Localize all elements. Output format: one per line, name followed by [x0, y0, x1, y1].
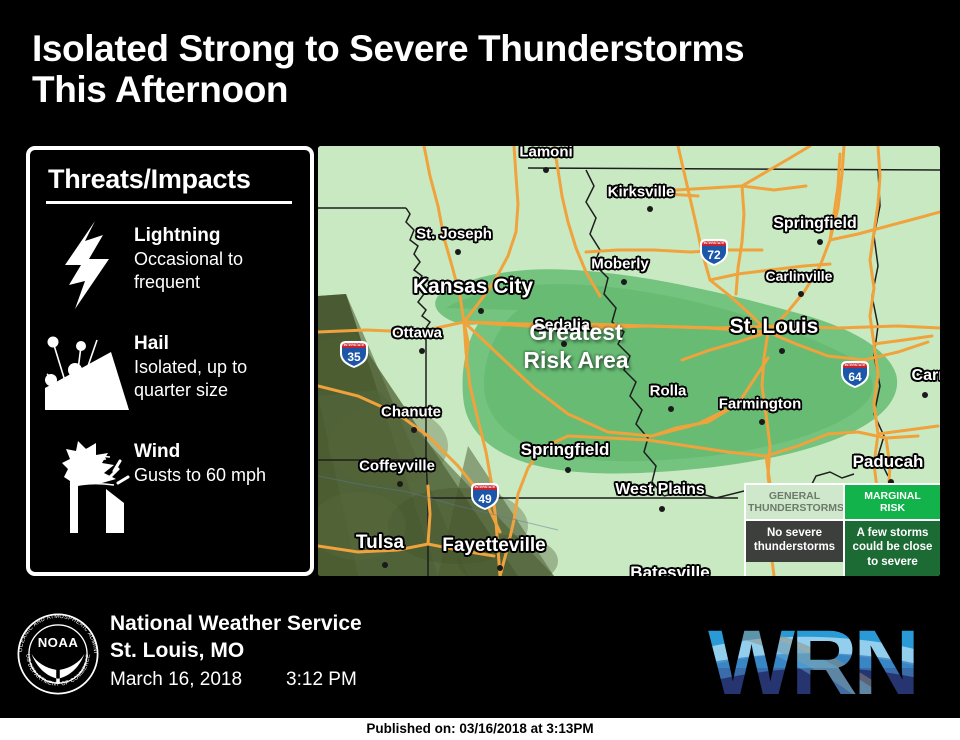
city-label: Paducah	[853, 452, 924, 472]
city-dot	[668, 406, 674, 412]
city-dot	[455, 249, 461, 255]
agency-name: National Weather Service	[110, 610, 362, 637]
city-dot	[411, 427, 417, 433]
city-label: Kirksville	[608, 184, 675, 201]
threat-row-lightning: Lightning Occasional to frequent	[44, 218, 298, 312]
city-dot	[621, 279, 627, 285]
legend-head-line-1: GENERAL	[748, 490, 841, 502]
svg-text:NOAA: NOAA	[38, 635, 79, 650]
city-label: Carm	[912, 367, 940, 385]
legend-body: No severe thunderstorms	[746, 519, 843, 562]
city-label: Kansas City	[413, 275, 533, 299]
threats-impacts-panel: Threats/Impacts Lightning Occasional to …	[26, 146, 314, 576]
legend-body: A few storms could be close to severe	[845, 519, 940, 576]
legend-head-line-2: THUNDERSTORMS	[748, 502, 841, 514]
issuance-date: March 16, 2018	[110, 669, 242, 691]
city-label: Tulsa	[356, 532, 404, 554]
city-label: Coffeyville	[359, 458, 435, 475]
heading-divider	[46, 201, 292, 204]
interstate-shield-icon: INTERSTATE49	[469, 481, 501, 511]
threat-desc-line-2: frequent	[134, 271, 243, 294]
city-dot	[497, 565, 503, 571]
city-label: Carlinville	[766, 268, 833, 284]
threats-panel-heading: Threats/Impacts	[44, 160, 298, 201]
lightning-bolt-icon	[44, 218, 130, 312]
threat-desc-line-2: quarter size	[134, 379, 247, 402]
outlook-map[interactable]: LamoniKirksvilleSpringfieldSt. JosephMob…	[318, 146, 940, 576]
city-dot	[779, 348, 785, 354]
svg-text:49: 49	[478, 492, 492, 506]
weather-graphic-page: Isolated Strong to Severe Thunderstorms …	[0, 0, 960, 740]
title-line-2: This Afternoon	[32, 69, 912, 110]
noaa-logo-icon: NATIONAL OCEANIC AND ATMOSPHERIC ADMINIS…	[14, 610, 102, 698]
threat-name: Lightning	[134, 224, 243, 248]
city-dot	[397, 481, 403, 487]
svg-text:INTERSTATE: INTERSTATE	[845, 363, 867, 367]
hailstones-icon	[44, 326, 130, 420]
svg-text:64: 64	[848, 370, 862, 384]
city-label: Ottawa	[392, 325, 442, 342]
title-line-1: Isolated Strong to Severe Thunderstorms	[32, 28, 744, 69]
city-dot	[478, 308, 484, 314]
city-label: Springfield	[521, 440, 610, 460]
city-label: St. Louis	[730, 315, 819, 339]
city-dot	[659, 506, 665, 512]
map-legend: GENERAL THUNDERSTORMS No severe thunders…	[744, 483, 940, 576]
svg-text:72: 72	[707, 248, 721, 262]
page-title: Isolated Strong to Severe Thunderstorms …	[32, 28, 912, 111]
published-banner: Published on: 03/16/2018 at 3:13PM	[0, 718, 960, 740]
interstate-shield-icon: INTERSTATE35	[338, 339, 370, 369]
risk-caption-line-1: Greatest	[523, 318, 628, 346]
city-dot	[543, 167, 549, 173]
legend-head-line-2: RISK	[847, 502, 938, 514]
risk-caption-line-2: Risk Area	[523, 346, 628, 374]
city-label: Lamoni	[519, 146, 572, 161]
legend-body-line-2: thunderstorms	[749, 540, 840, 554]
threat-text-hail: Hail Isolated, up to quarter size	[130, 326, 247, 403]
city-label: Batesville	[630, 563, 709, 576]
threat-name: Hail	[134, 332, 247, 356]
agency-block: National Weather Service St. Louis, MO M…	[110, 610, 362, 691]
threat-row-wind: Wind Gusts to 60 mph	[44, 434, 298, 528]
issuance-datetime: March 16, 2018 3:12 PM	[110, 669, 362, 691]
threat-desc-line-1: Gusts to 60 mph	[134, 464, 266, 487]
city-dot	[647, 206, 653, 212]
wind-blown-tree-icon	[44, 434, 130, 528]
svg-text:INTERSTATE: INTERSTATE	[704, 241, 726, 245]
threat-text-lightning: Lightning Occasional to frequent	[130, 218, 243, 295]
city-dot	[382, 562, 388, 568]
city-label: Springfield	[773, 215, 857, 233]
interstate-shield-icon: INTERSTATE64	[839, 359, 871, 389]
agency-office: St. Louis, MO	[110, 637, 362, 664]
city-dot	[565, 467, 571, 473]
legend-head-line-1: MARGINAL	[847, 490, 938, 502]
city-label: Farmington	[719, 396, 802, 413]
legend-body-line-1: A few storms	[848, 526, 937, 540]
svg-text:INTERSTATE: INTERSTATE	[344, 343, 366, 347]
city-label: West Plains	[615, 481, 705, 499]
legend-general-thunderstorms: GENERAL THUNDERSTORMS No severe thunders…	[746, 485, 843, 576]
issuance-time: 3:12 PM	[286, 669, 357, 691]
wrn-logo-icon: WRN	[676, 614, 948, 710]
legend-body-line-2: could be close	[848, 540, 937, 554]
legend-body-line-1: No severe	[749, 526, 840, 540]
city-label: Moberly	[591, 256, 649, 273]
legend-header: MARGINAL RISK	[845, 485, 940, 519]
city-label: Rolla	[650, 383, 687, 400]
city-label: Fayetteville	[442, 535, 546, 557]
threat-name: Wind	[134, 440, 266, 464]
city-dot	[759, 419, 765, 425]
legend-header: GENERAL THUNDERSTORMS	[746, 485, 843, 519]
city-label: Chanute	[381, 404, 441, 421]
svg-text:35: 35	[347, 350, 361, 364]
svg-text:INTERSTATE: INTERSTATE	[475, 485, 497, 489]
city-dot	[817, 239, 823, 245]
city-dot	[419, 348, 425, 354]
legend-marginal-risk: MARGINAL RISK A few storms could be clos…	[843, 485, 940, 576]
threat-desc-line-1: Isolated, up to	[134, 356, 247, 379]
threat-text-wind: Wind Gusts to 60 mph	[130, 434, 266, 487]
city-dot	[922, 392, 928, 398]
greatest-risk-area-caption: Greatest Risk Area	[523, 318, 628, 374]
threat-row-hail: Hail Isolated, up to quarter size	[44, 326, 298, 420]
city-label: St. Joseph	[416, 226, 492, 243]
city-dot	[798, 291, 804, 297]
interstate-shield-icon: INTERSTATE72	[698, 237, 730, 267]
legend-body-line-3: to severe	[848, 555, 937, 569]
threat-desc-line-1: Occasional to	[134, 248, 243, 271]
